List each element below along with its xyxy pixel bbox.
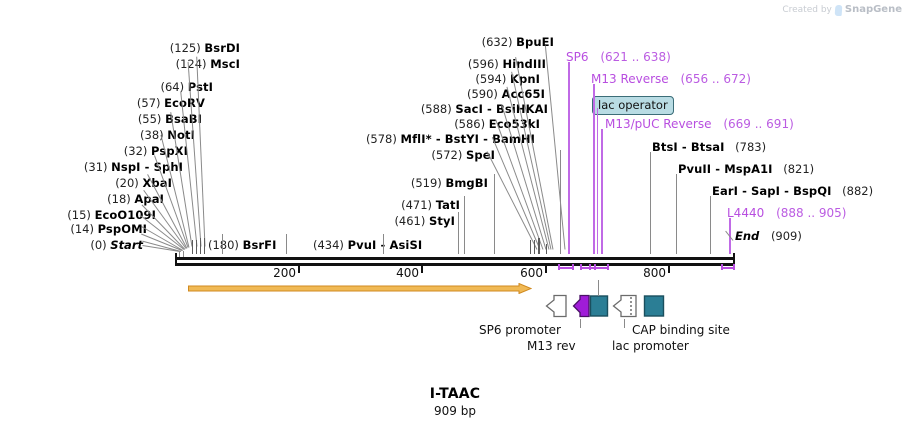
- enzyme-pos: (471): [401, 198, 432, 212]
- enzyme-pos: (586): [454, 117, 485, 131]
- primer-range: (669 .. 691): [723, 117, 793, 131]
- enzyme-label-bsrdi[interactable]: (125) BsrDI: [40, 41, 240, 55]
- cut-tick: [710, 248, 711, 254]
- primer-leader-m13-puc-reverse: [601, 129, 603, 254]
- enzyme-label-bsrfi[interactable]: (180) BsrFI: [208, 238, 277, 252]
- lac-operator-tag-wrap[interactable]: lac operator: [592, 94, 674, 113]
- enzyme-pos: (783): [735, 140, 766, 154]
- enzyme-label-btsi-btsai[interactable]: BtsI - BtsaI (783): [652, 140, 766, 154]
- enzyme-pos: (588): [421, 102, 452, 116]
- enzyme-names: MscI: [210, 57, 240, 71]
- primer-range: (621 .. 638): [600, 50, 670, 64]
- primer-label-sp6[interactable]: SP6 (621 .. 638): [566, 50, 671, 64]
- enzyme-pos: (632): [482, 35, 513, 49]
- start-pos: (0): [90, 238, 106, 252]
- leader-line: [650, 152, 651, 254]
- feature-label-cap-binding-site[interactable]: CAP binding site: [632, 323, 730, 337]
- primer-span-l4440-cap: [721, 264, 723, 270]
- enzyme-names: StyI: [429, 214, 455, 228]
- primer-name: M13 Reverse: [591, 72, 669, 86]
- enzyme-label-ecorv[interactable]: (57) EcoRV: [20, 96, 205, 110]
- leader-line: [458, 212, 459, 248]
- enzyme-label-tati[interactable]: (471) TatI: [280, 198, 460, 212]
- primer-leader-operator: [597, 108, 598, 254]
- primer-name: L4440: [727, 206, 764, 220]
- snapgene-linear-map: Created by SnapGene (125) BsrDI (124) Ms…: [0, 0, 910, 427]
- leader-line: [494, 174, 495, 248]
- ruler-bar-top-strand: [175, 257, 735, 260]
- ruler-tick-label-200: 200: [273, 266, 298, 280]
- enzyme-names: BmgBI: [445, 176, 488, 190]
- enzyme-names: PspOMI: [98, 222, 147, 236]
- ruler-tick-label-400: 400: [396, 266, 421, 280]
- feature-sp6-promoter[interactable]: [545, 294, 567, 318]
- feature-label-lac-promoter[interactable]: lac promoter: [612, 339, 689, 353]
- end-text: End: [735, 229, 759, 243]
- enzyme-label-hindiii[interactable]: (596) HindIII: [300, 57, 546, 71]
- ruler-tick-label-800: 800: [643, 266, 668, 280]
- leader-line: [222, 234, 223, 248]
- feature-cap-binding-site[interactable]: [643, 294, 665, 318]
- enzyme-label-pspomi[interactable]: (14) PspOMI: [10, 222, 147, 236]
- cut-tick: [650, 248, 651, 254]
- ruler-tick-200: [298, 266, 300, 273]
- enzyme-names: HindIII: [502, 57, 546, 71]
- enzyme-names: PvuII - MspA1I: [678, 162, 773, 176]
- enzyme-pos: (55): [138, 112, 162, 126]
- enzyme-pos: (57): [137, 96, 161, 110]
- enzyme-names: PspXI: [151, 144, 188, 158]
- enzyme-pos: (20): [115, 176, 139, 190]
- enzyme-pos: (124): [176, 57, 207, 71]
- enzyme-pos: (14): [70, 222, 94, 236]
- enzyme-names: TatI: [436, 198, 460, 212]
- enzyme-pos: (596): [468, 57, 499, 71]
- end-pos: (909): [771, 229, 802, 243]
- leader-line: [710, 196, 711, 254]
- feature-label-m13-rev[interactable]: M13 rev: [527, 339, 576, 353]
- enzyme-names: BsrDI: [204, 41, 240, 55]
- snapgene-logo-icon: [834, 5, 842, 16]
- ruler-tick-800: [668, 266, 670, 273]
- watermark-prefix: Created by: [782, 5, 832, 15]
- enzyme-pos: (461): [394, 214, 425, 228]
- enzyme-label-bsabi[interactable]: (55) BsaBI: [20, 112, 202, 126]
- enzyme-pos: (18): [107, 192, 131, 206]
- enzyme-names: EarI - SapI - BspQI: [712, 184, 831, 198]
- enzyme-names: BpuEI: [516, 35, 554, 49]
- primer-span-l4440-cap: [733, 264, 735, 270]
- enzyme-label-styi[interactable]: (461) StyI: [280, 214, 455, 228]
- enzyme-names: MflI* - BstYI - BamHI: [401, 132, 535, 146]
- enzyme-label-noti[interactable]: (38) NotI: [20, 128, 195, 142]
- enzyme-label-bmgbi[interactable]: (519) BmgBI: [280, 176, 488, 190]
- feature-lac-promoter[interactable]: [612, 294, 638, 318]
- primer-label-m13-puc-reverse[interactable]: M13/pUC Reverse (669 .. 691): [605, 117, 794, 131]
- primer-leader-sp6: [568, 62, 570, 254]
- feature-lac-operator[interactable]: [589, 294, 609, 318]
- enzyme-pos: (578): [366, 132, 397, 146]
- sequence-length: 909 bp: [0, 404, 910, 418]
- leader-line: [286, 234, 287, 248]
- leader-line: [383, 234, 384, 248]
- primer-label-m13-reverse[interactable]: M13 Reverse (656 .. 672): [591, 72, 751, 86]
- enzyme-label-bpuei[interactable]: (632) BpuEI: [330, 35, 554, 49]
- primer-range: (656 .. 672): [681, 72, 751, 86]
- ruler-tick-label-600: 600: [520, 266, 545, 280]
- primer-name: M13/pUC Reverse: [605, 117, 712, 131]
- lac-operator-tag[interactable]: lac operator: [592, 96, 674, 115]
- feature-track: [0, 294, 910, 326]
- primer-span-m13-cap: [580, 264, 582, 270]
- enzyme-pos: (31): [84, 160, 108, 174]
- leader-line: [676, 174, 677, 254]
- feature-m13-rev[interactable]: [572, 294, 590, 318]
- enzyme-names: NotI: [167, 128, 195, 142]
- cut-tick: [560, 150, 561, 254]
- feature-label-sp6-promoter[interactable]: SP6 promoter: [479, 323, 561, 337]
- enzyme-names: PvuI - AsiSI: [348, 238, 423, 252]
- primer-span-puc-cap: [607, 264, 609, 270]
- enzyme-label-psti[interactable]: (64) PstI: [20, 80, 213, 94]
- enzyme-label-eari-sapi-bspqi[interactable]: EarI - SapI - BspQI (882): [712, 184, 873, 198]
- snapgene-watermark: Created by SnapGene: [782, 4, 902, 15]
- enzyme-pos: (572): [431, 148, 462, 162]
- primer-range: (888 .. 905): [776, 206, 846, 220]
- enzyme-pos: (180): [208, 238, 239, 252]
- primer-label-l4440[interactable]: L4440 (888 .. 905): [727, 206, 847, 220]
- enzyme-label-eco53ki[interactable]: (586) Eco53kI: [280, 117, 540, 131]
- cut-tick: [676, 248, 677, 254]
- lac-operator-stem: [598, 280, 599, 296]
- primer-leader-m13-reverse: [593, 84, 595, 254]
- orf-arrow[interactable]: [188, 283, 532, 294]
- primer-span-sp6-cap: [558, 264, 560, 270]
- enzyme-names: BsrFI: [243, 238, 277, 252]
- enzyme-names: NspI - SphI: [111, 160, 183, 174]
- primer-span-sp6-cap: [572, 264, 574, 270]
- feature-stem: [624, 319, 625, 328]
- enzyme-pos: (434): [313, 238, 344, 252]
- enzyme-label-pvui-asisi[interactable]: (434) PvuI - AsiSI: [313, 238, 422, 252]
- enzyme-names: BtsI - BtsaI: [652, 140, 725, 154]
- primer-span-puc-cap: [589, 264, 591, 270]
- enzyme-label-spei[interactable]: (572) SpeI: [280, 148, 495, 162]
- enzyme-pos: (594): [475, 72, 506, 86]
- enzyme-pos: (519): [411, 176, 442, 190]
- leader-line: [545, 45, 566, 249]
- start-text: Start: [110, 238, 143, 252]
- leader-line: [464, 196, 465, 248]
- sequence-end-label[interactable]: End (909): [735, 229, 802, 243]
- enzyme-names: XbaI: [142, 176, 172, 190]
- enzyme-names: PstI: [188, 80, 213, 94]
- enzyme-label-ecoo109i[interactable]: (15) EcoO109I: [10, 208, 156, 222]
- sequence-start-label[interactable]: (0) Start: [10, 238, 143, 252]
- enzyme-pos: (590): [467, 87, 498, 101]
- watermark-brand: SnapGene: [845, 4, 902, 15]
- feature-stem: [580, 319, 581, 328]
- enzyme-pos: (125): [170, 41, 201, 55]
- enzyme-label-msci[interactable]: (124) MscI: [40, 57, 240, 71]
- enzyme-pos: (882): [842, 184, 873, 198]
- ruler-tick-600: [545, 266, 547, 273]
- ruler-tick-400: [421, 266, 423, 273]
- enzyme-label-pvuii-mspa1i[interactable]: PvuII - MspA1I (821): [678, 162, 814, 176]
- enzyme-pos: (821): [783, 162, 814, 176]
- enzyme-pos: (15): [67, 208, 91, 222]
- sequence-ruler[interactable]: 200 400 600 800: [175, 252, 735, 282]
- primer-span-m13-puc-reverse: [589, 267, 609, 269]
- enzyme-label-kpni[interactable]: (594) KpnI: [300, 72, 540, 86]
- enzyme-pos: (32): [124, 144, 148, 158]
- sequence-title: I-TAAC: [0, 386, 910, 402]
- title-block: I-TAAC 909 bp: [0, 386, 910, 418]
